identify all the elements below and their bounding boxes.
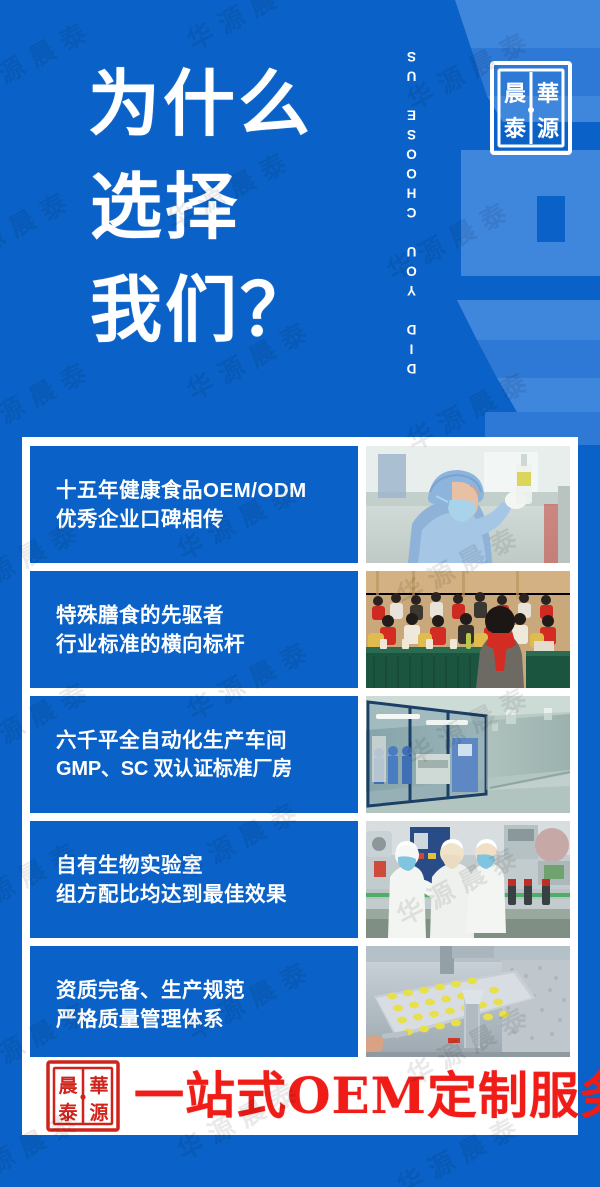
feature-line-2: 行业标准的横向标杆 [56,630,350,659]
feature-card[interactable]: 十五年健康食品OEM/ODM 优秀企业口碑相传 [30,446,570,563]
feature-line-2: 优秀企业口碑相传 [56,505,350,534]
brand-seal-white-icon: 晨 泰 華 源 [487,58,575,158]
page-title-line-3: 我们？ [90,258,315,361]
svg-text:源: 源 [89,1101,108,1124]
feature-card[interactable]: 六千平全自动化生产车间 GMP、SC 双认证标准厂房 [30,696,570,813]
svg-text:華: 華 [537,81,559,107]
feature-line-2: 组方配比均达到最佳效果 [56,880,350,909]
page-title: 为什么 选择 我们？ [88,52,315,361]
feature-line-1: 特殊膳食的先驱者 [56,601,350,630]
feature-card-text: 特殊膳食的先驱者 行业标准的横向标杆 [30,571,358,688]
feature-card-list: 十五年健康食品OEM/ODM 优秀企业口碑相传 [30,446,570,1063]
page-title-line-2: 选择 [90,155,315,258]
feature-card[interactable]: 自有生物实验室 组方配比均达到最佳效果 [30,821,570,938]
hero-section: 为什么 选择 我们？ DID YOU CHOOSE US 晨 泰 華 源 [0,0,600,440]
feature-card-text: 六千平全自动化生产车间 GMP、SC 双认证标准厂房 [30,696,358,813]
feature-card[interactable]: 资质完备、生产规范 严格质量管理体系 [30,946,570,1063]
page-title-line-1: 为什么 [88,52,315,155]
cleanroom-corridor-photo [366,696,570,813]
feature-line-2: 严格质量管理体系 [56,1005,350,1034]
footer-headline: 一站式OEM定制服务 [134,1068,600,1124]
poster-root: 为什么 选择 我们？ DID YOU CHOOSE US 晨 泰 華 源 [0,0,600,1187]
feature-card-text: 十五年健康食品OEM/ODM 优秀企业口碑相传 [30,446,358,563]
features-panel: 十五年健康食品OEM/ODM 优秀企业口碑相传 [22,437,578,1105]
feature-card-text: 资质完备、生产规范 严格质量管理体系 [30,946,358,1063]
lab-technician-photo [366,446,570,563]
feature-line-1: 十五年健康食品OEM/ODM [56,476,350,505]
feature-line-1: 六千平全自动化生产车间 [56,726,350,755]
vertical-caption: DID YOU CHOOSE US [404,10,430,410]
feature-card[interactable]: 特殊膳食的先驱者 行业标准的横向标杆 [30,571,570,688]
svg-text:晨: 晨 [58,1075,78,1097]
production-line-staff-photo [366,821,570,938]
svg-text:華: 華 [89,1074,108,1097]
svg-text:源: 源 [537,116,559,142]
feature-line-2: GMP、SC 双认证标准厂房 [56,755,350,784]
feature-line-1: 自有生物实验室 [56,851,350,880]
brand-seal-red-icon: 晨 泰 華 源 [44,1059,122,1133]
svg-text:泰: 泰 [503,116,527,142]
svg-text:泰: 泰 [57,1101,78,1124]
feature-card-text: 自有生物实验室 组方配比均达到最佳效果 [30,821,358,938]
conference-audience-photo [366,571,570,688]
footer-bar: 晨 泰 華 源 一站式OEM定制服务 [22,1057,578,1135]
tablet-packaging-machine-photo [366,946,570,1063]
feature-line-1: 资质完备、生产规范 [56,976,350,1005]
svg-text:晨: 晨 [504,81,527,107]
